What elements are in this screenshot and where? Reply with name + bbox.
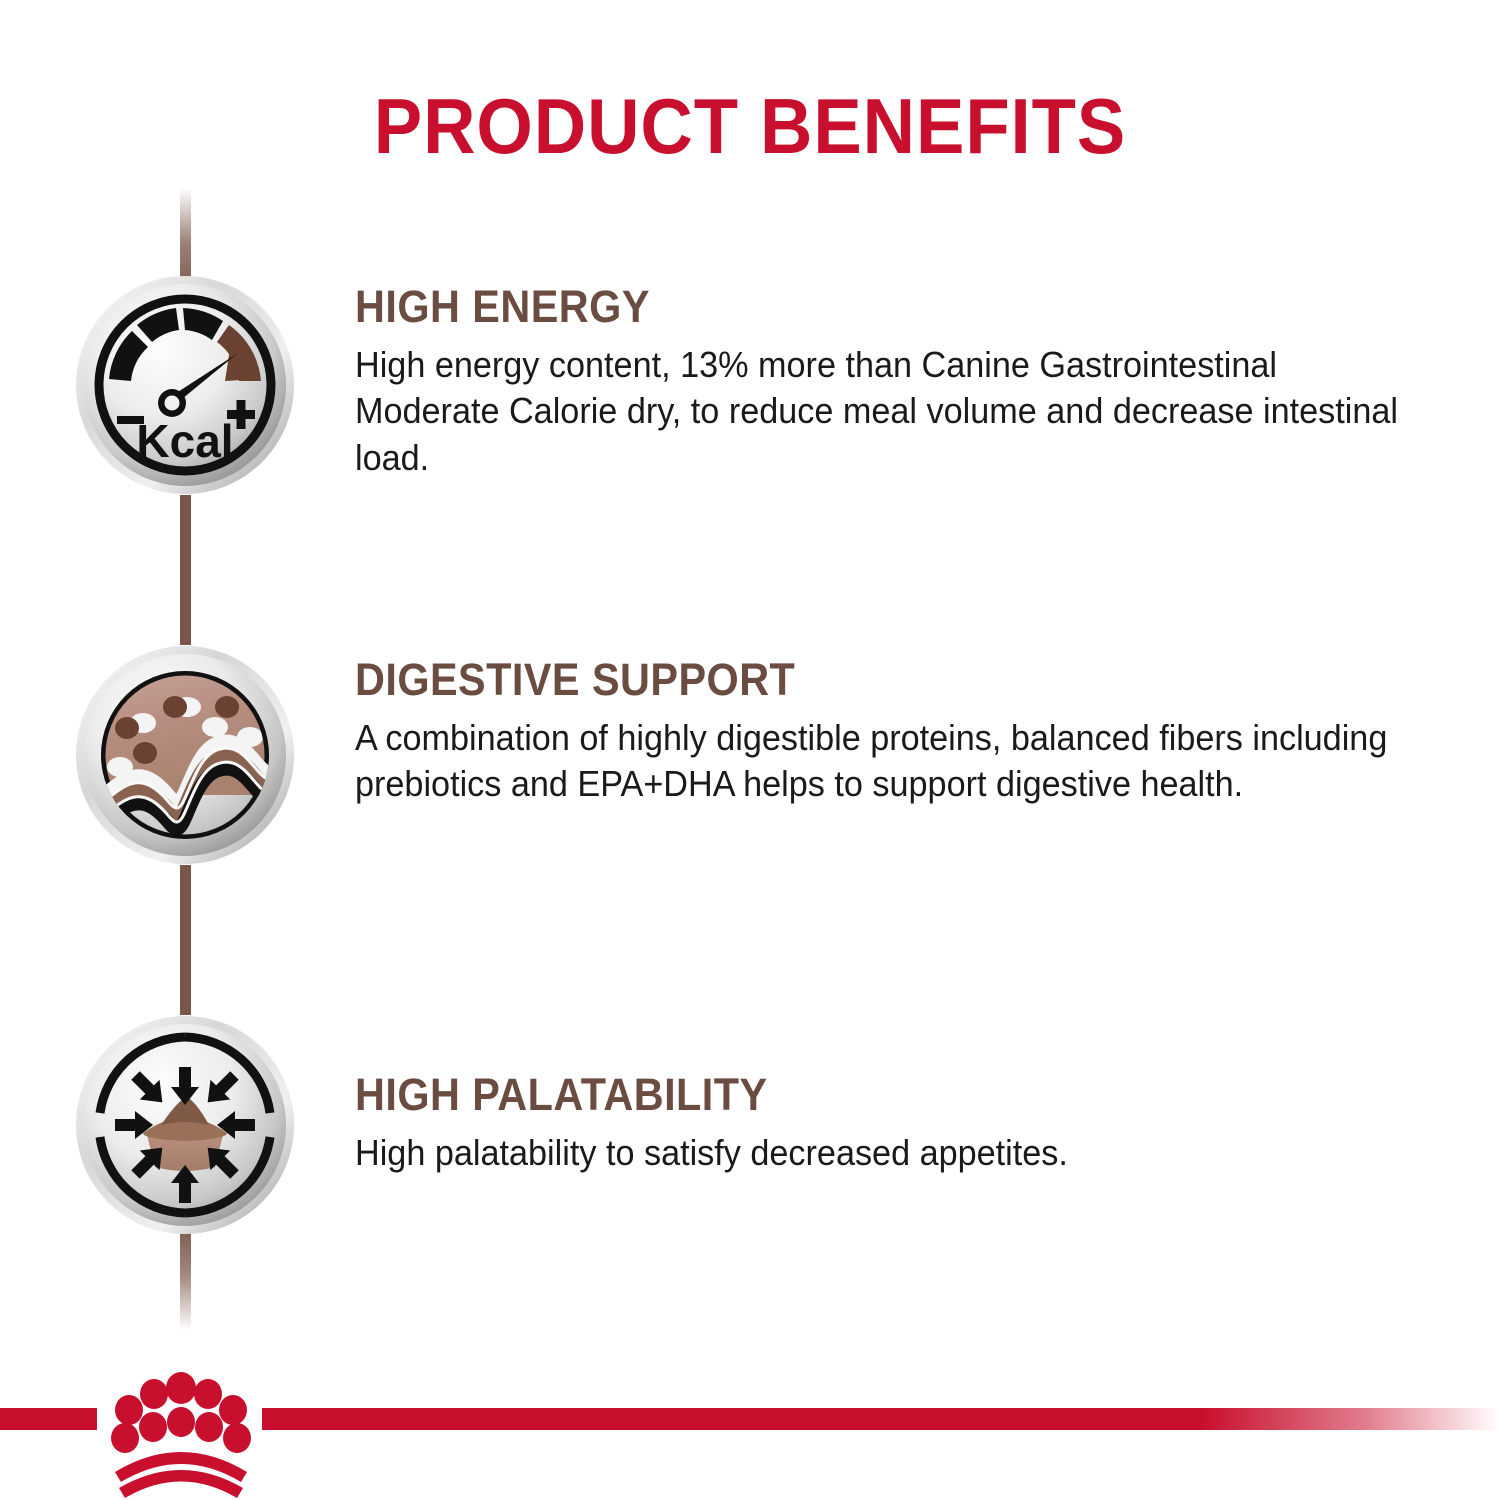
benefit-body: High palatability to satisfy decreased a… bbox=[355, 1130, 1429, 1177]
kcal-gauge-icon: Kcal bbox=[75, 275, 295, 495]
page-title: PRODUCT BENEFITS bbox=[53, 86, 1448, 168]
food-bowl-arrows-icon bbox=[75, 1015, 295, 1235]
timeline-spine-segment-1 bbox=[180, 495, 191, 645]
benefit-body: A combination of highly digestible prote… bbox=[355, 715, 1429, 809]
benefit-text-high-energy: HIGH ENERGY High energy content, 13% mor… bbox=[355, 282, 1430, 482]
benefit-heading: HIGH ENERGY bbox=[355, 282, 1344, 332]
timeline-spine-segment-2 bbox=[180, 865, 191, 1015]
product-benefits-page: PRODUCT BENEFITS bbox=[0, 0, 1500, 1500]
timeline-spine-top bbox=[180, 188, 191, 288]
digestive-waves-icon bbox=[75, 645, 295, 865]
timeline-spine-bottom bbox=[180, 1230, 191, 1330]
benefit-heading: HIGH PALATABILITY bbox=[355, 1070, 1344, 1120]
footer-rule-left bbox=[0, 1408, 97, 1430]
footer-rule-right bbox=[262, 1408, 1500, 1430]
benefit-body: High energy content, 13% more than Canin… bbox=[355, 342, 1429, 482]
kcal-unit-label: Kcal bbox=[136, 415, 233, 467]
benefit-text-digestive-support: DIGESTIVE SUPPORT A combination of highl… bbox=[355, 655, 1430, 808]
benefit-text-high-palatability: HIGH PALATABILITY High palatability to s… bbox=[355, 1070, 1430, 1176]
benefit-heading: DIGESTIVE SUPPORT bbox=[355, 655, 1344, 705]
royal-canin-crown-logo bbox=[103, 1368, 259, 1500]
